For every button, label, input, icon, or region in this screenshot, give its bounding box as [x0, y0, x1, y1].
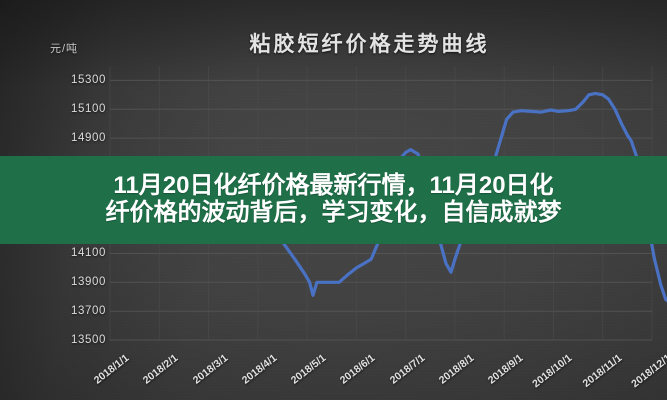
x-axis-tick-label: 2018/5/1 — [289, 352, 329, 387]
x-axis-tick-label: 2018/1/1 — [92, 352, 132, 387]
screenshot-root: 元/吨 粘胶短纤价格走势曲线 1530015100149001470014500… — [0, 0, 667, 400]
x-axis-tick-label: 2018/9/1 — [486, 352, 526, 387]
x-axis-tick-label: 2018/6/1 — [338, 352, 378, 387]
caption-line-2: 纤价格的波动背后，学习变化，自信成就梦 — [106, 200, 562, 227]
x-axis-tick-label: 2018/12/1 — [629, 352, 667, 390]
x-axis-tick-label: 2018/11/1 — [580, 352, 624, 390]
x-axis-tick-label: 2018/10/1 — [531, 352, 575, 390]
caption-line-1: 11月20日化纤价格最新行情，11月20日化 — [113, 173, 553, 200]
x-axis-tick-label: 2018/4/1 — [240, 352, 280, 387]
x-axis-tick-label: 2018/7/1 — [387, 352, 427, 387]
caption-overlay-banner: 11月20日化纤价格最新行情，11月20日化 纤价格的波动背后，学习变化，自信成… — [0, 156, 667, 244]
x-axis-tick-label: 2018/3/1 — [190, 352, 230, 387]
x-axis-tick-label: 2018/2/1 — [141, 352, 181, 387]
x-axis-tick-label: 2018/8/1 — [437, 352, 477, 387]
